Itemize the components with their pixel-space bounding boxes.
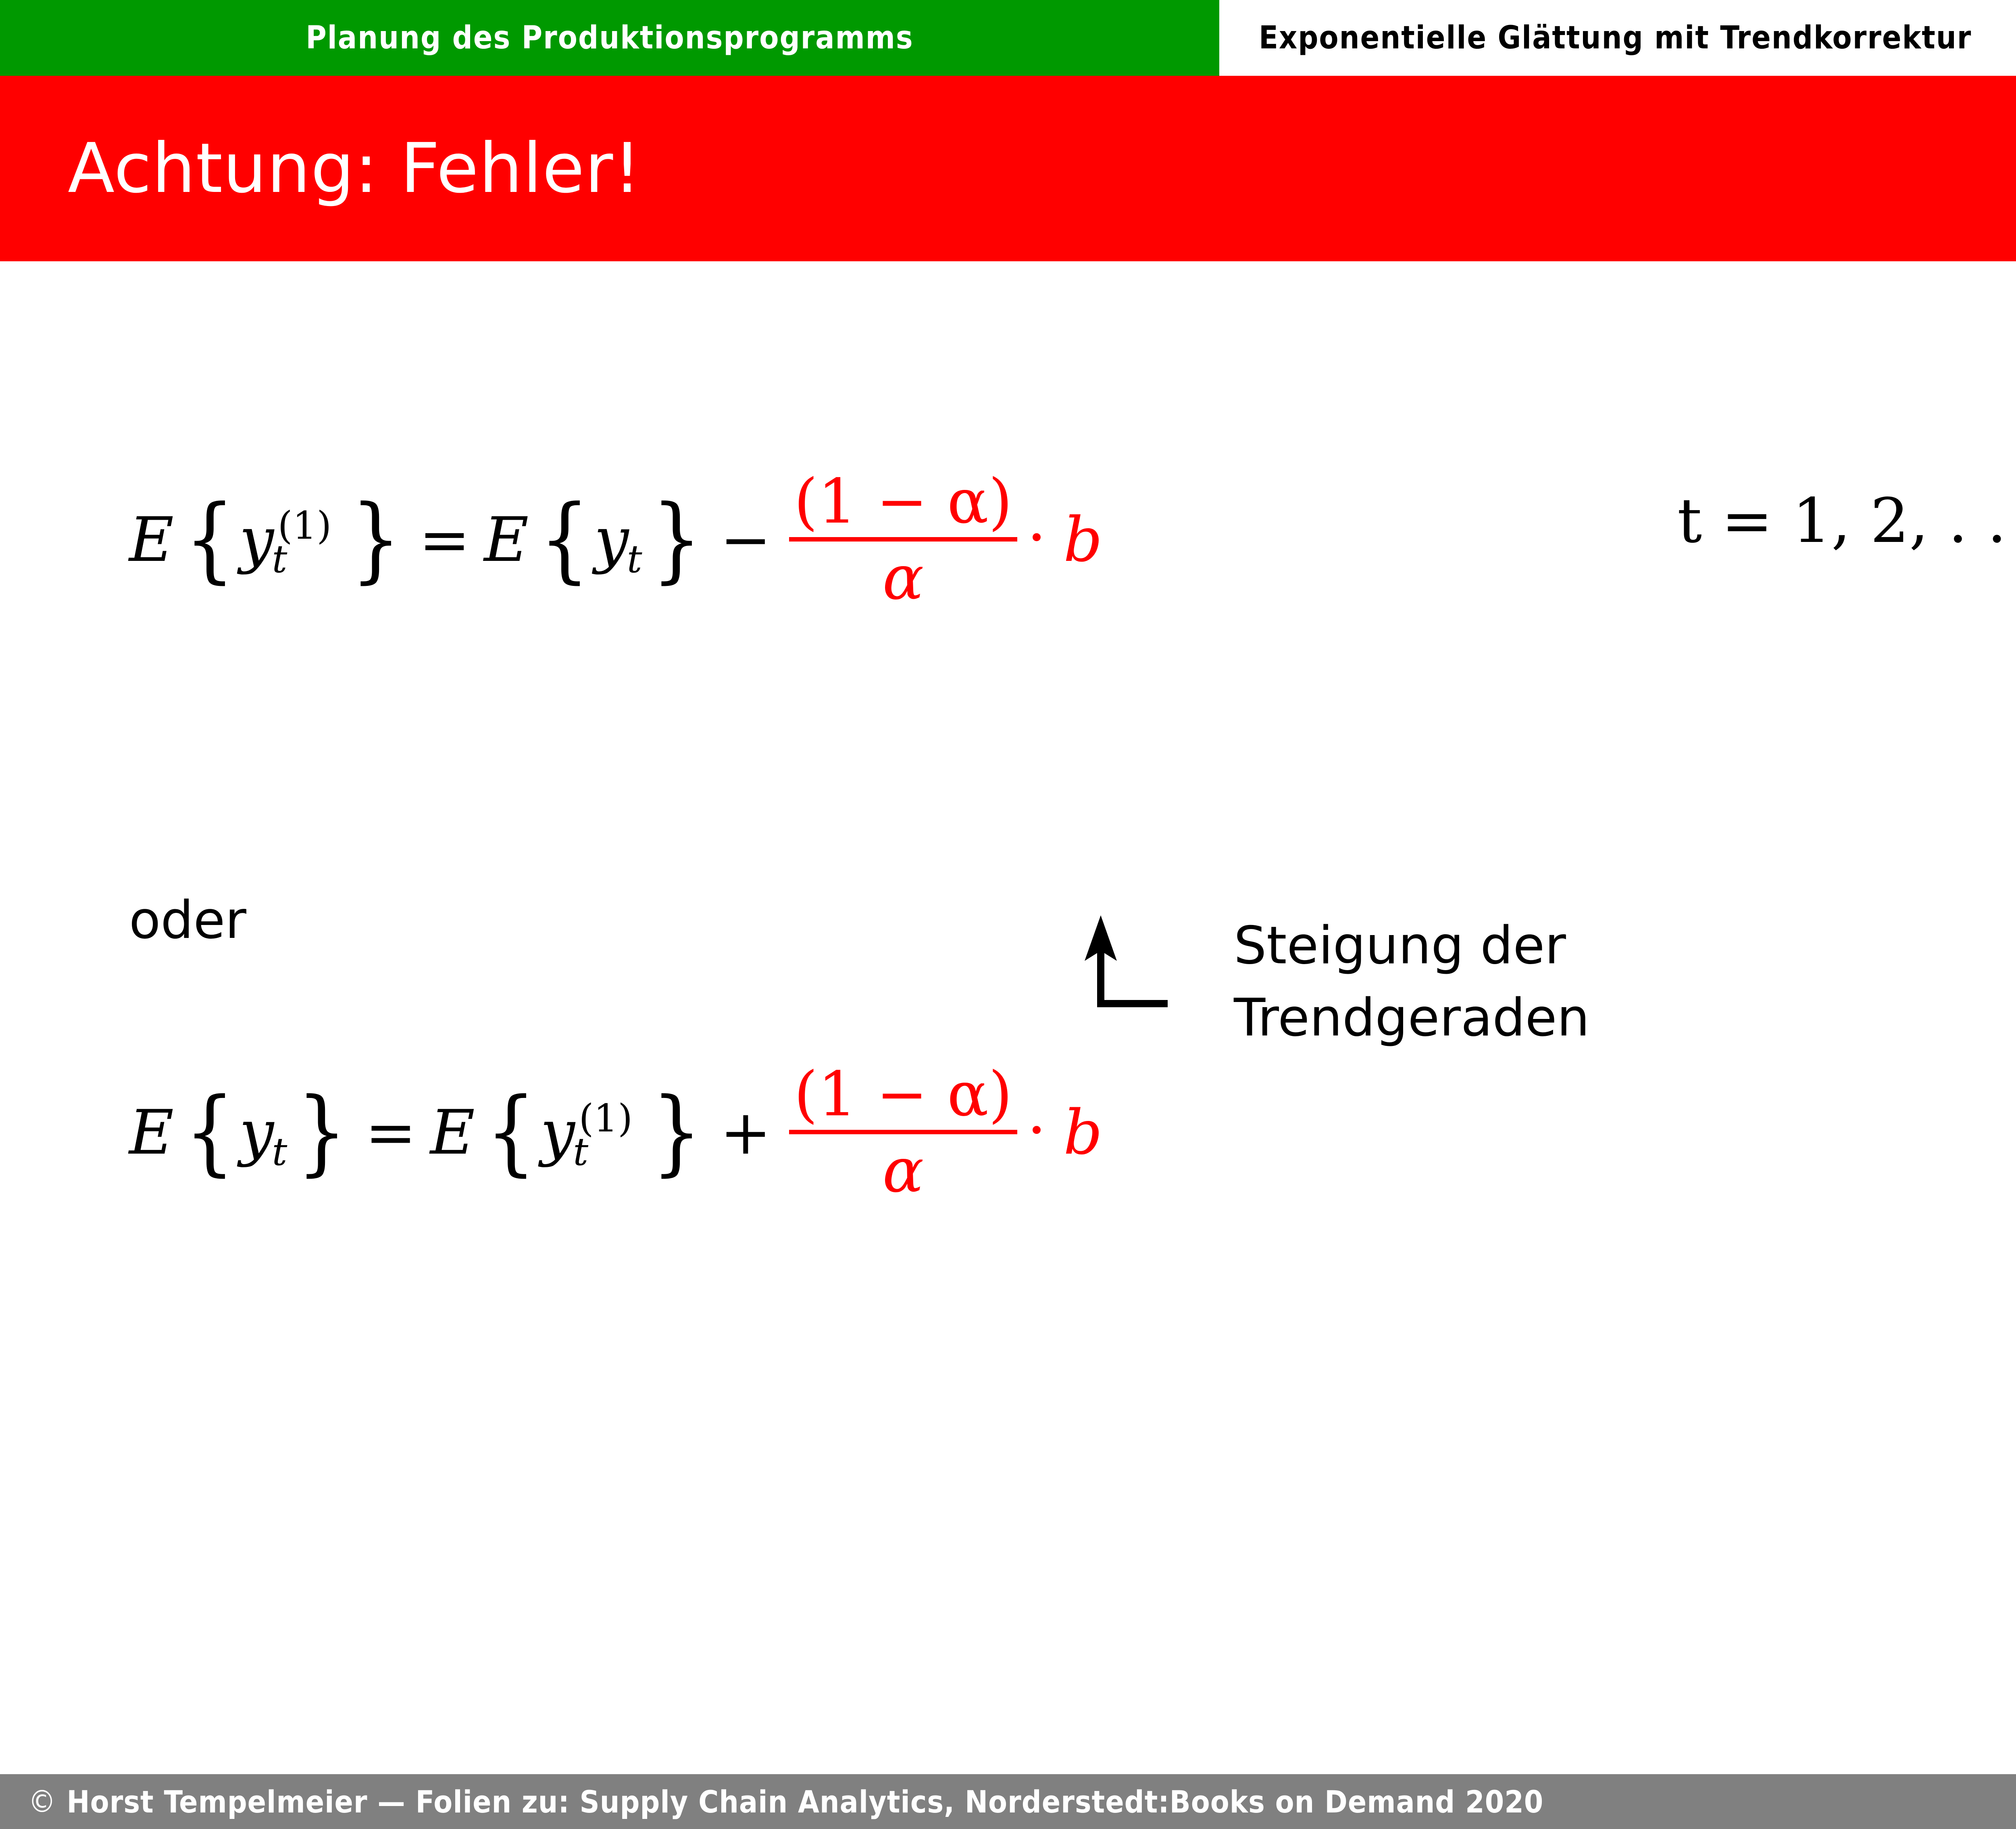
annotation-text: Steigung der Trendgeraden (1234, 910, 1590, 1054)
formula1-rhs-operator-E: E (484, 504, 529, 575)
formula1-rhs-variable-subscript: t (627, 537, 642, 581)
formula2-rhs-brace-open: { (486, 1098, 536, 1167)
formula1-lhs-variable: yt(1) (239, 504, 346, 575)
header-section-right[interactable]: Exponentielle Glättung mit Trendkorrektu… (1219, 0, 2016, 76)
formula1-rhs-brace-open: { (539, 505, 589, 575)
formula1-fraction: (1 − α) α (789, 471, 1017, 608)
formula2-rhs-operator-E: E (430, 1097, 475, 1168)
footer-bar: © Horst Tempelmeier — Folien zu: Supply … (0, 1774, 2016, 1829)
formula1-rhs-variable: yt (594, 504, 648, 575)
formula1-factor-b: b (1063, 504, 1102, 575)
formula1-equals-sign: = (419, 504, 470, 575)
formula-expected-actual: E { yt } = E { yt(1) } + (1 − α) α · b (129, 1064, 1103, 1201)
formula1-index-range: t = 1, 2, . . . (1677, 485, 2016, 556)
conjunction-oder: oder (129, 890, 246, 950)
annotation-line-2: Trendgeraden (1234, 982, 1590, 1054)
formula1-fraction-denominator: α (878, 542, 929, 608)
formula2-factor-b: b (1063, 1097, 1102, 1168)
formula1-lhs-operator-E: E (129, 504, 174, 575)
copyright-icon: © (28, 1786, 56, 1817)
formula2-rhs-variable-superscript: (1) (579, 1097, 633, 1141)
formula2-rhs-variable: yt(1) (540, 1097, 647, 1168)
header-left-nav-label: Planung des Produktionsprogramms (306, 20, 913, 56)
formula2-lhs-variable-base: y (239, 1097, 274, 1168)
annotation-arrow-icon (1073, 910, 1193, 1031)
formula2-rhs-brace-close: } (652, 1098, 702, 1167)
formula2-lhs-brace-close: } (297, 1098, 347, 1167)
formula1-lhs-brace-close: } (351, 505, 401, 575)
formula2-fraction-numerator: (1 − α) (789, 1064, 1017, 1130)
formula-expected-smoothed: E { yt(1) } = E { yt } − (1 − α) α · b (129, 471, 1103, 608)
annotation-arrow (1073, 910, 1193, 1031)
page-title: Achtung: Fehler! (68, 129, 641, 208)
formula2-lhs-brace-open: { (185, 1098, 235, 1167)
formula2-lhs-variable-subscript: t (272, 1130, 287, 1174)
header-section-left[interactable]: Planung des Produktionsprogramms (0, 0, 1219, 76)
formula2-multiplication-dot: · (1027, 1094, 1046, 1166)
formula1-lhs-variable-superscript: (1) (278, 504, 331, 548)
formula1-rhs-brace-close: } (652, 505, 702, 575)
footer-credit-text: Horst Tempelmeier — Folien zu: Supply Ch… (67, 1784, 1543, 1820)
header-right-nav-label: Exponentielle Glättung mit Trendkorrektu… (1259, 20, 1972, 56)
header-bar: Planung des Produktionsprogramms Exponen… (0, 0, 2016, 76)
annotation-line-1: Steigung der (1234, 910, 1590, 982)
formula1-rhs-variable-base: y (594, 504, 629, 575)
footer-credit: © Horst Tempelmeier — Folien zu: Supply … (28, 1784, 1543, 1820)
formula2-fraction-denominator: α (878, 1134, 929, 1201)
formula2-equals-sign: = (365, 1097, 416, 1168)
formula1-fraction-bar (789, 537, 1017, 542)
formula2-rhs-variable-base: y (540, 1097, 575, 1168)
slide-title-bar: Achtung: Fehler! (0, 76, 2016, 261)
formula2-fraction-bar (789, 1130, 1017, 1134)
formula2-lhs-operator-E: E (129, 1097, 174, 1168)
slide-content: E { yt(1) } = E { yt } − (1 − α) α · b t… (0, 261, 2016, 1742)
formula2-lhs-variable: yt (239, 1097, 292, 1168)
formula2-plus-sign: + (720, 1097, 771, 1168)
formula1-lhs-variable-base: y (239, 504, 274, 575)
formula1-multiplication-dot: · (1027, 502, 1046, 573)
formula2-fraction: (1 − α) α (789, 1064, 1017, 1201)
formula1-minus-sign: − (720, 504, 771, 575)
formula1-lhs-brace-open: { (185, 505, 235, 575)
formula1-fraction-numerator: (1 − α) (789, 471, 1017, 537)
